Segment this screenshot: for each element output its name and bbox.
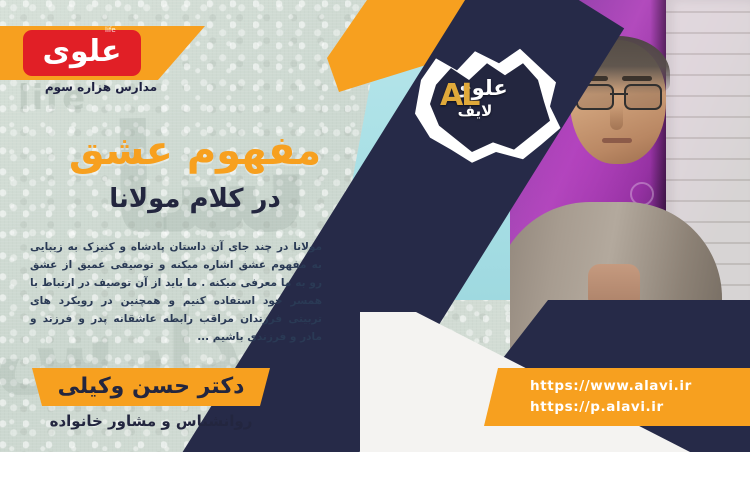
nose (610, 106, 623, 130)
speaker-role: روانشناس و مشاور خانواده (32, 412, 270, 430)
badge-monogram-icon: AL (440, 78, 478, 113)
brand-logo-text: علوی (42, 37, 121, 67)
speaker-name: دکتر حسن وکیلی (58, 374, 245, 399)
url-secondary[interactable]: https://p.alavi.ir (530, 397, 692, 418)
body-paragraph: مولانا در چند جای آن داستان پادشاه و کنی… (30, 238, 322, 346)
glasses-icon (576, 84, 662, 108)
mouth (602, 138, 632, 143)
brand-logo-box: علوی (23, 30, 141, 76)
body-paragraph-text: مولانا در چند جای آن داستان پادشاه و کنی… (30, 238, 322, 346)
poster-canvas: رسا مدارس life (0, 0, 750, 480)
url-primary[interactable]: https://www.alavi.ir (530, 376, 692, 397)
speaker-name-banner: دکتر حسن وکیلی (32, 368, 270, 406)
lens-right (624, 84, 662, 110)
page-subtitle: در کلام مولانا (30, 184, 360, 214)
badge-brand-name: علوی (412, 76, 548, 100)
eyebrow-right (622, 76, 652, 81)
url-list: https://www.alavi.ir https://p.alavi.ir (530, 376, 692, 418)
brand-logo-trademark: life (105, 26, 116, 34)
page-title: مفهوم عشق (30, 128, 360, 174)
bottom-white-strip (0, 452, 750, 480)
artboard: رسا مدارس life (0, 0, 750, 452)
torn-paper-badge: علوی لایف AL (412, 44, 562, 164)
brand-logo-subtitle: مدارس هزاره سوم (26, 80, 176, 94)
